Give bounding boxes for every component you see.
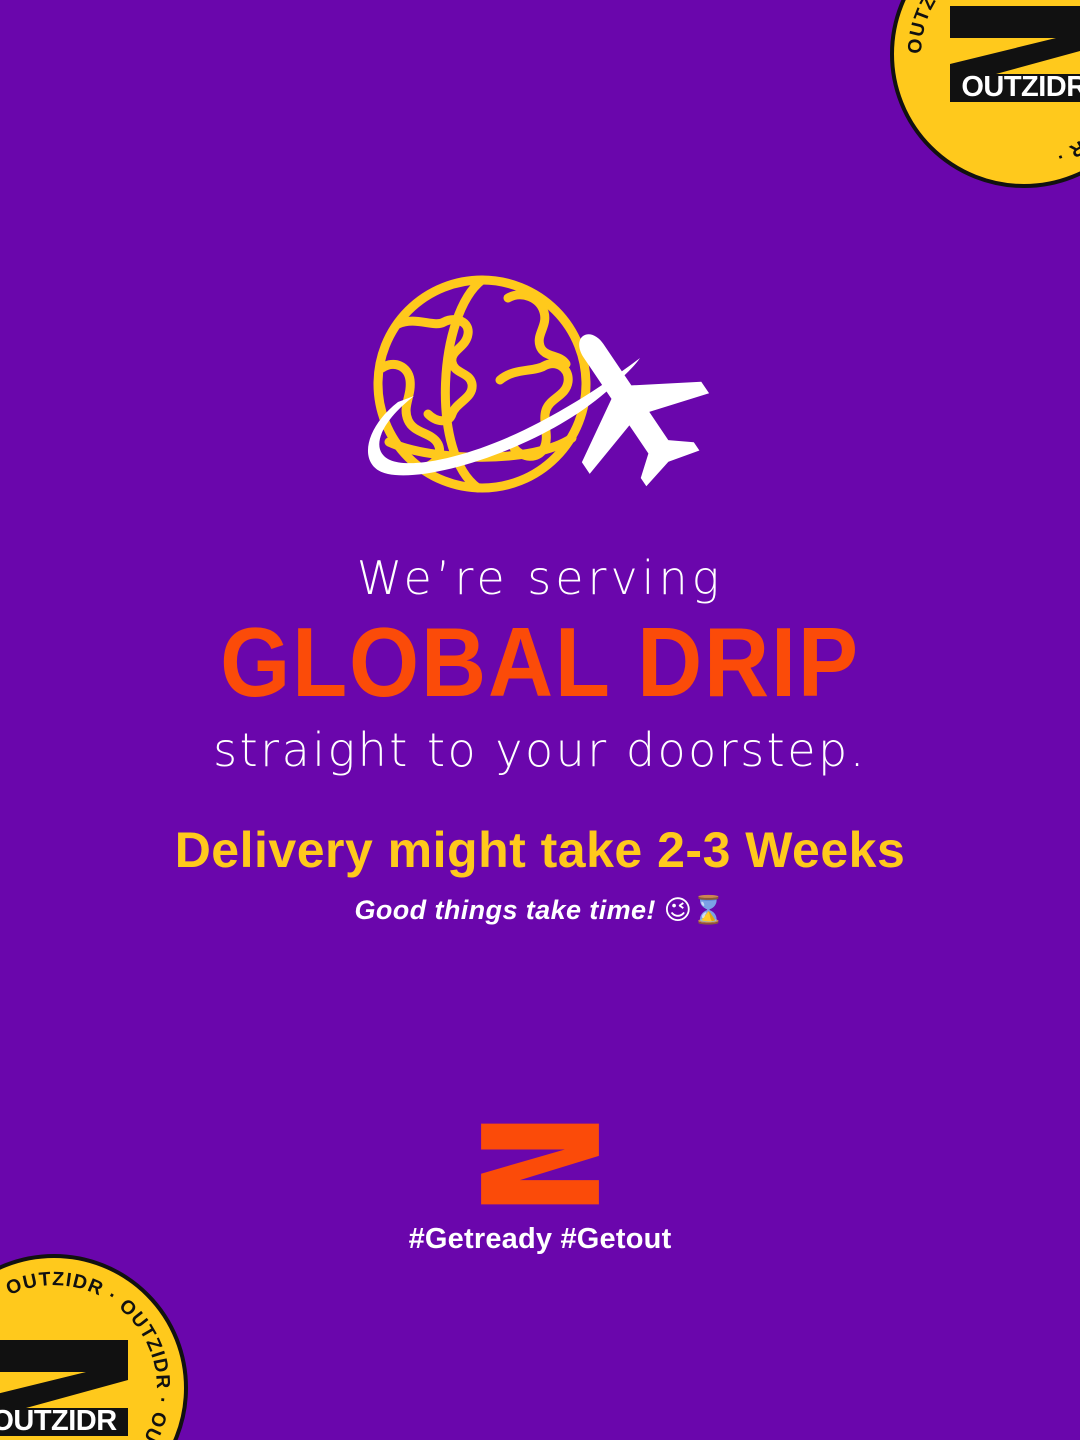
headline-block: We’re serving GLOBAL DRIP straight to yo…: [0, 552, 1080, 777]
delivery-note: Good things take time! 😉⌛: [0, 894, 1080, 927]
footer-block: #Getready #Getout: [0, 1122, 1080, 1257]
globe-airplane-icon: [354, 272, 726, 520]
badge-core-label-tr: OUTZIDR: [944, 73, 1080, 102]
globe-airplane-illustration: [354, 272, 726, 520]
page-title: GLOBAL DRIP: [43, 611, 1037, 714]
delivery-note-text: Good things take time!: [355, 895, 656, 925]
badge-core-tr: OUTZIDR: [944, 2, 1080, 106]
delivery-notice-block: Delivery might take 2-3 Weeks Good thing…: [0, 822, 1080, 927]
delivery-headline: Delivery might take 2-3 Weeks: [0, 822, 1080, 880]
badge-core-label-bl: OUTZIDR: [0, 1407, 134, 1436]
z-logo-icon: [478, 1122, 602, 1206]
z-logo-mark: [478, 1122, 602, 1206]
badge-core-bl: OUTZIDR: [0, 1336, 134, 1440]
hashtags-text: #Getready #Getout: [0, 1222, 1080, 1257]
wink-hourglass-emoji: 😉⌛: [664, 895, 726, 926]
poster-canvas: OUTZIDR · OUTZIDR · OUTZIDR · OUTZIDR · …: [0, 0, 1080, 1440]
outzidr-badge-bottom-left: OUTZIDR · OUTZIDR · OUTZIDR · OUTZIDR · …: [0, 1254, 188, 1440]
kicker-text: We’re serving: [0, 552, 1080, 605]
subline-text: straight to your doorstep.: [0, 724, 1080, 777]
outzidr-badge-top-right: OUTZIDR · OUTZIDR · OUTZIDR · OUTZIDR · …: [890, 0, 1080, 188]
